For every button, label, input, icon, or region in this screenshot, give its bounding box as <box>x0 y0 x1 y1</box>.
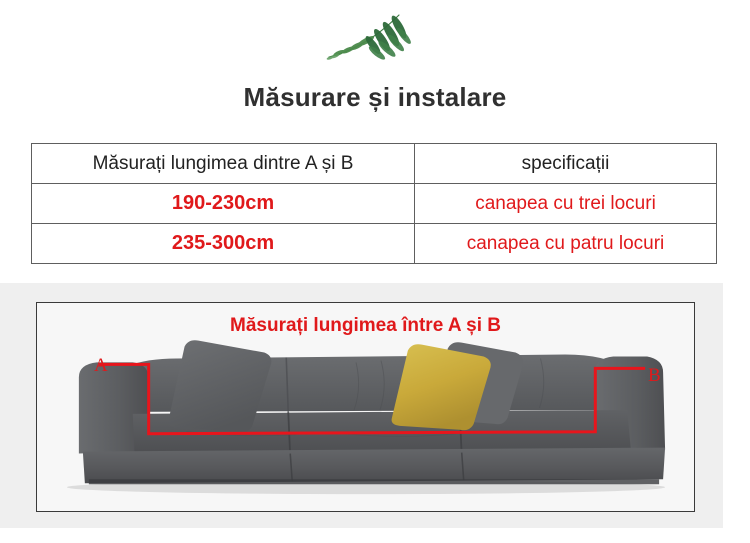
marker-label-a: A <box>94 356 108 375</box>
brand-logo <box>0 6 750 68</box>
cell-length-1: 190-230cm <box>32 184 415 224</box>
cell-specification-1: canapea cu trei locuri <box>415 184 717 224</box>
table-row: 190-230cm canapea cu trei locuri <box>32 184 717 224</box>
cell-specification-2: canapea cu patru locuri <box>415 224 717 264</box>
specification-table: Măsurați lungimea dintre A și B specific… <box>31 143 717 264</box>
sofa-photo <box>37 303 694 511</box>
fern-leaf-icon <box>315 7 435 67</box>
cell-length-2: 235-300cm <box>32 224 415 264</box>
column-header-specification: specificații <box>415 144 717 184</box>
table-header-row: Măsurați lungimea dintre A și B specific… <box>32 144 717 184</box>
page-title: Măsurare și instalare <box>0 82 750 113</box>
marker-label-b: B <box>648 366 661 385</box>
column-header-length: Măsurați lungimea dintre A și B <box>32 144 415 184</box>
measurement-photo-panel: Măsurați lungimea între A și B <box>36 302 695 512</box>
table-row: 235-300cm canapea cu patru locuri <box>32 224 717 264</box>
